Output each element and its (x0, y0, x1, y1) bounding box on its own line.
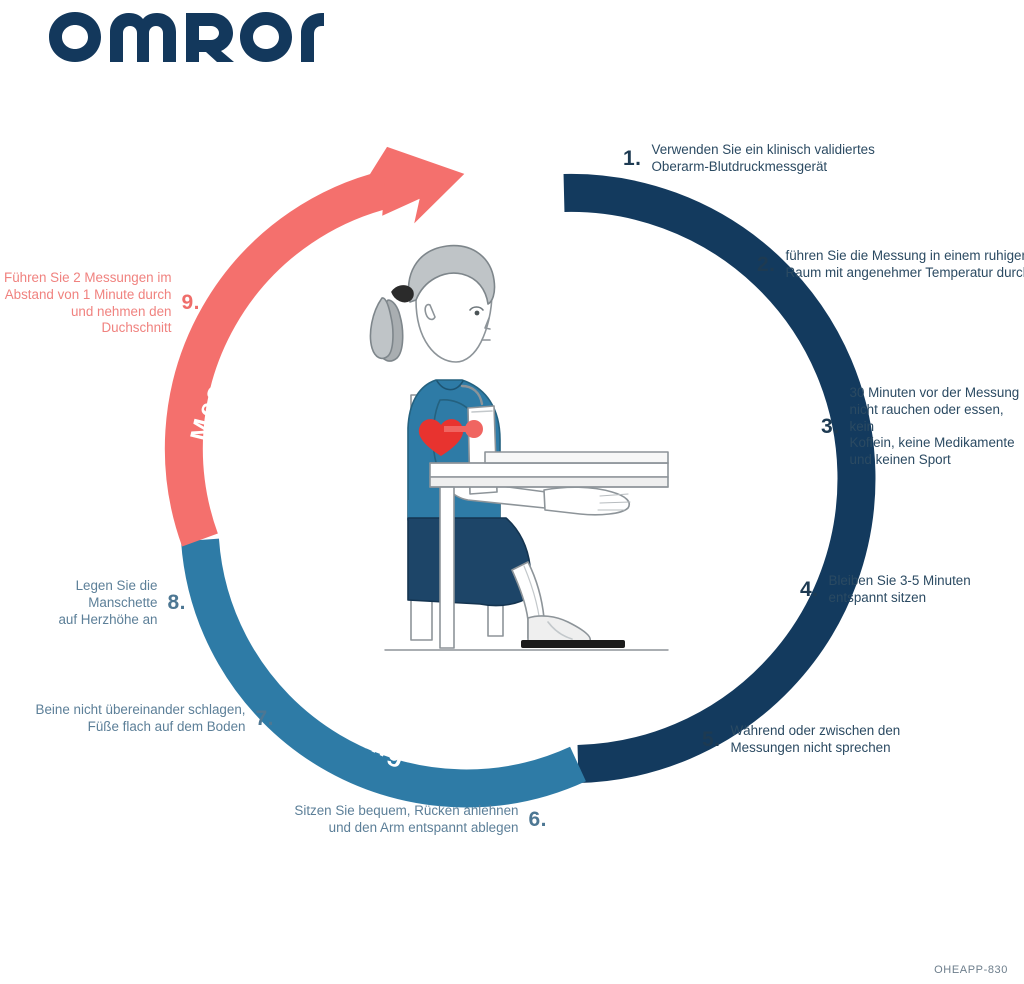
step-8: Legen Sie die Manschette auf Herzhöhe an… (8, 578, 186, 628)
step-4-text: Bleiben Sie 3-5 Minuten entspannt sitzen (829, 573, 971, 607)
step-9-text: Führen Sie 2 Messungen im Abstand von 1 … (0, 270, 171, 337)
step-9: Führen Sie 2 Messungen im Abstand von 1 … (0, 270, 200, 337)
step-6-text: Sitzen Sie bequem, Rücken anlehnen und d… (294, 803, 518, 837)
step-8-text: Legen Sie die Manschette auf Herzhöhe an (8, 578, 157, 628)
illustration-seated-woman (370, 246, 668, 650)
step-5: 5. Während oder zwischen den Messungen n… (702, 723, 952, 757)
step-6: Sitzen Sie bequem, Rücken anlehnen und d… (292, 803, 547, 837)
step-9-number: 9. (181, 290, 200, 316)
step-5-text: Während oder zwischen den Messungen nich… (731, 723, 901, 757)
step-7-number: 7. (255, 706, 274, 732)
infographic-page: Bedingungen Haltung Messungen (0, 0, 1024, 984)
step-6-number: 6. (528, 807, 547, 833)
step-2-number: 2. (757, 252, 776, 278)
step-2: 2. führen Sie die Messung in einem ruhig… (757, 248, 1024, 282)
step-1-text: Verwenden Sie ein klinisch validiertes O… (652, 142, 875, 176)
step-7-text: Beine nicht übereinander schlagen, Füße … (36, 702, 246, 736)
step-5-number: 5. (702, 727, 721, 753)
step-1: 1. Verwenden Sie ein klinisch validierte… (623, 142, 1023, 176)
document-code: OHEAPP-830 (934, 964, 1008, 976)
step-7: Beine nicht übereinander schlagen, Füße … (24, 702, 274, 736)
step-4-number: 4. (800, 577, 819, 603)
step-3-text: 30 Minuten vor der Messung nicht rauchen… (850, 385, 1024, 469)
step-3: 3. 30 Minuten vor der Messung nicht rauc… (821, 385, 1024, 469)
step-3-number: 3. (821, 414, 840, 440)
arc-label-messungen: Messungen (0, 0, 267, 444)
step-4: 4. Bleiben Sie 3-5 Minuten entspannt sit… (800, 573, 1020, 607)
step-1-number: 1. (623, 146, 642, 172)
step-8-number: 8. (167, 590, 186, 616)
step-2-text: führen Sie die Messung in einem ruhigen … (786, 248, 1024, 282)
